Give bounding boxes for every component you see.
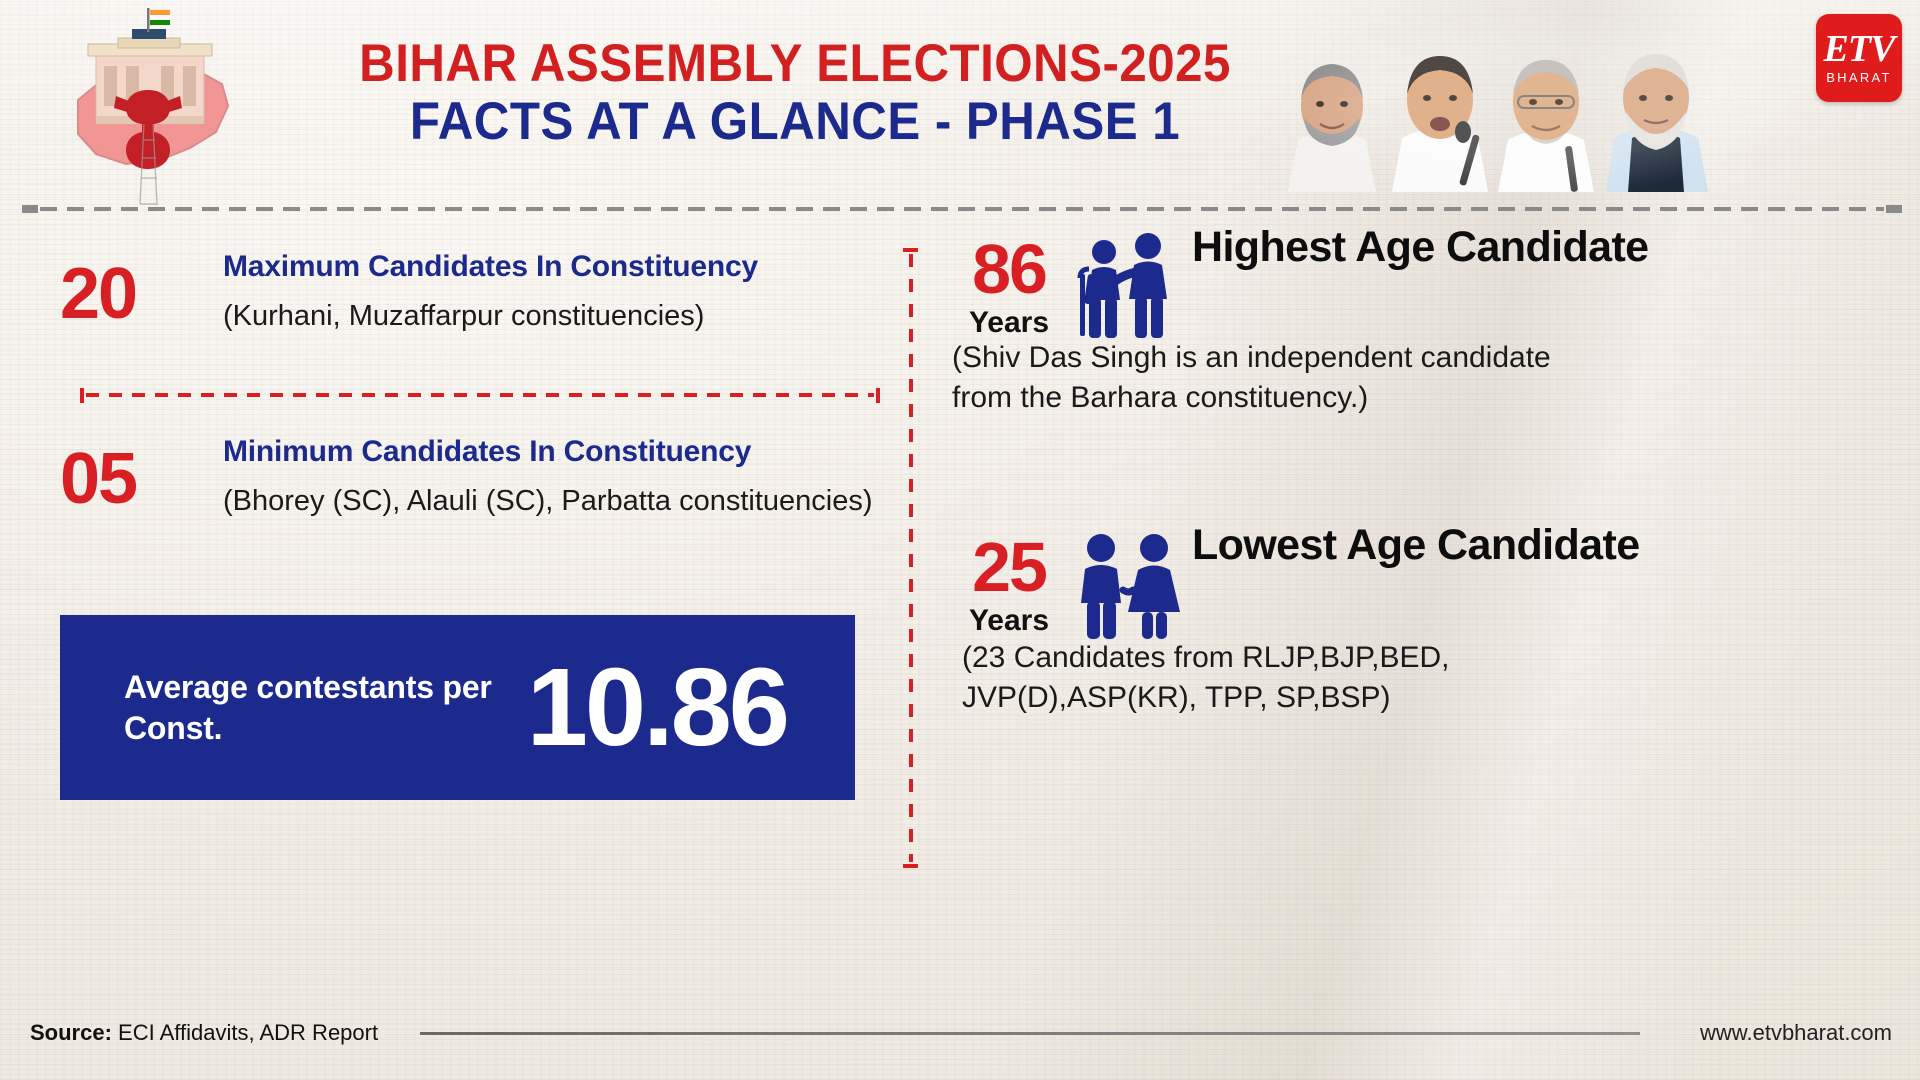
highest-age-unit: Years (954, 308, 1064, 338)
man-woman-icon (1068, 528, 1186, 646)
logo-etv-text: ETV (1824, 31, 1895, 67)
average-contestants-box: Average contestants per Const. 10.86 (60, 615, 855, 800)
max-candidates-text: Maximum Candidates In Constituency (Kurh… (223, 250, 883, 335)
max-candidates-number: 20 (60, 258, 136, 330)
highest-age-number: 86 (954, 236, 1064, 303)
lowest-age-number-group: 25 Years (954, 534, 1064, 636)
left-divider-left-cap (80, 388, 84, 403)
leaders-photo-group (1280, 14, 1790, 192)
header-divider-left-cap (22, 205, 38, 213)
header-divider-right-cap (1886, 205, 1902, 213)
min-candidates-heading: Minimum Candidates In Constituency (223, 435, 883, 470)
min-candidates-text: Minimum Candidates In Constituency (Bhor… (223, 435, 883, 520)
lowest-age-title: Lowest Age Candidate (1192, 522, 1832, 569)
footer-rule (420, 1032, 1640, 1035)
bihar-map-assembly-emblem (40, 8, 260, 208)
max-candidates-heading: Maximum Candidates In Constituency (223, 250, 883, 285)
elderly-with-helper-icon (1068, 230, 1186, 348)
lowest-age-note: (23 Candidates from RLJP,BJP,BED, JVP(D)… (962, 638, 1582, 718)
source-value: ECI Affidavits, ADR Report (118, 1020, 378, 1045)
page-title-line2: FACTS AT A GLANCE - PHASE 1 (325, 92, 1264, 151)
left-section-divider (80, 393, 880, 398)
header-divider-dashes (40, 207, 1884, 211)
page-title-line1: BIHAR ASSEMBLY ELECTIONS-2025 (325, 36, 1264, 92)
max-candidates-note: (Kurhani, Muzaffarpur constituencies) (223, 297, 883, 335)
logo-bharat-text: BHARAT (1826, 70, 1892, 85)
website-url: www.etvbharat.com (1700, 1020, 1892, 1046)
header-divider (22, 205, 1902, 213)
etv-bharat-logo: ETV BHARAT (1816, 14, 1902, 102)
source-credit: Source: ECI Affidavits, ADR Report (30, 1020, 378, 1046)
title-block: BIHAR ASSEMBLY ELECTIONS-2025 FACTS AT A… (290, 36, 1300, 152)
footer: Source: ECI Affidavits, ADR Report www.e… (0, 996, 1920, 1080)
column-divider-bottom-cap (903, 864, 918, 868)
highest-age-number-group: 86 Years (954, 236, 1064, 338)
column-divider (908, 248, 914, 868)
left-divider-right-cap (876, 388, 880, 403)
average-contestants-label: Average contestants per Const. (124, 667, 527, 749)
source-label: Source: (30, 1020, 112, 1045)
left-divider-dashes (86, 393, 874, 397)
lowest-age-number: 25 (954, 534, 1064, 601)
highest-age-title: Highest Age Candidate (1192, 224, 1832, 271)
average-contestants-value: 10.86 (527, 653, 787, 763)
column-divider-dashes (909, 254, 913, 862)
highest-age-note: (Shiv Das Singh is an independent candid… (952, 338, 1572, 418)
min-candidates-number: 05 (60, 443, 136, 515)
lowest-age-unit: Years (954, 606, 1064, 636)
min-candidates-note: (Bhorey (SC), Alauli (SC), Parbatta cons… (223, 482, 883, 520)
header: BIHAR ASSEMBLY ELECTIONS-2025 FACTS AT A… (0, 0, 1920, 210)
column-divider-top-cap (903, 248, 918, 252)
